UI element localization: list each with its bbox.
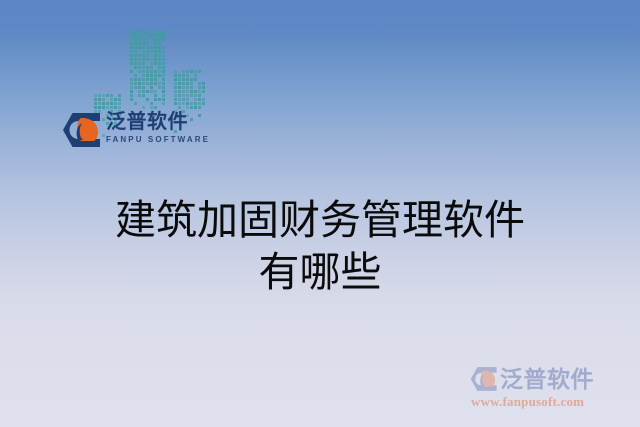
page-title-line-1: 建筑加固财务管理软件 bbox=[0, 194, 640, 246]
brand-name-en: FANPU SOFTWARE bbox=[106, 134, 210, 146]
page-title-line-2: 有哪些 bbox=[0, 246, 640, 298]
brand-logo-text: 泛普软件 FANPU SOFTWARE bbox=[106, 110, 210, 146]
watermark-brand-row: 泛普软件 bbox=[470, 363, 630, 395]
watermark: 泛普软件 www.fanpusoft.com bbox=[470, 363, 630, 415]
brand-logo: 泛普软件 FANPU SOFTWARE bbox=[62, 110, 210, 160]
watermark-brand-name: 泛普软件 bbox=[500, 366, 594, 392]
page-title: 建筑加固财务管理软件 有哪些 bbox=[0, 194, 640, 298]
brand-name-cn: 泛普软件 bbox=[106, 111, 210, 133]
promo-banner: 泛普软件 FANPU SOFTWARE 建筑加固财务管理软件 有哪些 泛普软件 … bbox=[0, 0, 640, 427]
fanpu-logo-mark-icon bbox=[62, 112, 102, 148]
watermark-url: www.fanpusoft.com bbox=[471, 394, 630, 410]
fanpu-watermark-mark-icon bbox=[470, 366, 498, 392]
pixel-skyline-decoration bbox=[90, 26, 212, 118]
